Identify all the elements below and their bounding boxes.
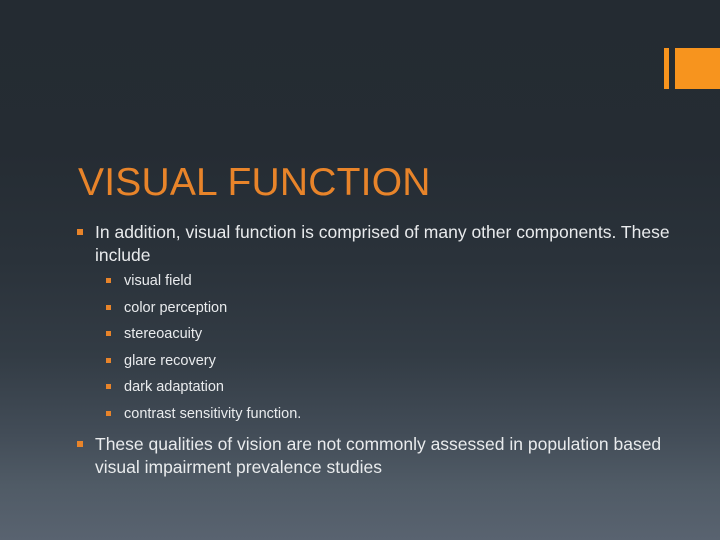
bullet-list: In addition, visual function is comprise… (76, 221, 676, 479)
sub-bullet-text: visual field (124, 273, 192, 289)
slide-title: VISUAL FUNCTION (78, 160, 431, 206)
list-item: dark adaptation (106, 378, 676, 397)
square-bullet-icon (106, 411, 111, 416)
sub-bullet-text: stereoacuity (124, 326, 202, 342)
orange-corner-accent (664, 48, 720, 89)
sub-bullet-list: visual field color perception stereoacui… (95, 272, 676, 424)
bullet-text: These qualities of vision are not common… (95, 434, 661, 477)
square-bullet-icon (77, 441, 83, 447)
bullet-item-primary-2: These qualities of vision are not common… (76, 433, 676, 479)
list-item: contrast sensitivity function. (106, 405, 676, 424)
sub-bullet-text: contrast sensitivity function. (124, 406, 301, 422)
square-bullet-icon (106, 331, 111, 336)
bullet-item-primary-1: In addition, visual function is comprise… (76, 221, 676, 424)
square-bullet-icon (106, 305, 111, 310)
square-bullet-icon (106, 384, 111, 389)
list-item: stereoacuity (106, 325, 676, 344)
square-bullet-icon (106, 358, 111, 363)
slide-body: In addition, visual function is comprise… (76, 221, 676, 480)
accent-thin-bar (664, 48, 669, 89)
square-bullet-icon (77, 229, 83, 235)
sub-bullet-text: glare recovery (124, 353, 216, 369)
accent-block-bar (675, 48, 720, 89)
sub-bullet-text: color perception (124, 300, 227, 316)
list-item: color perception (106, 299, 676, 318)
presentation-slide: VISUAL FUNCTION In addition, visual func… (0, 0, 720, 540)
list-item: visual field (106, 272, 676, 291)
sub-bullet-text: dark adaptation (124, 379, 224, 395)
list-item: glare recovery (106, 352, 676, 371)
square-bullet-icon (106, 278, 111, 283)
bullet-text: In addition, visual function is comprise… (95, 222, 670, 265)
